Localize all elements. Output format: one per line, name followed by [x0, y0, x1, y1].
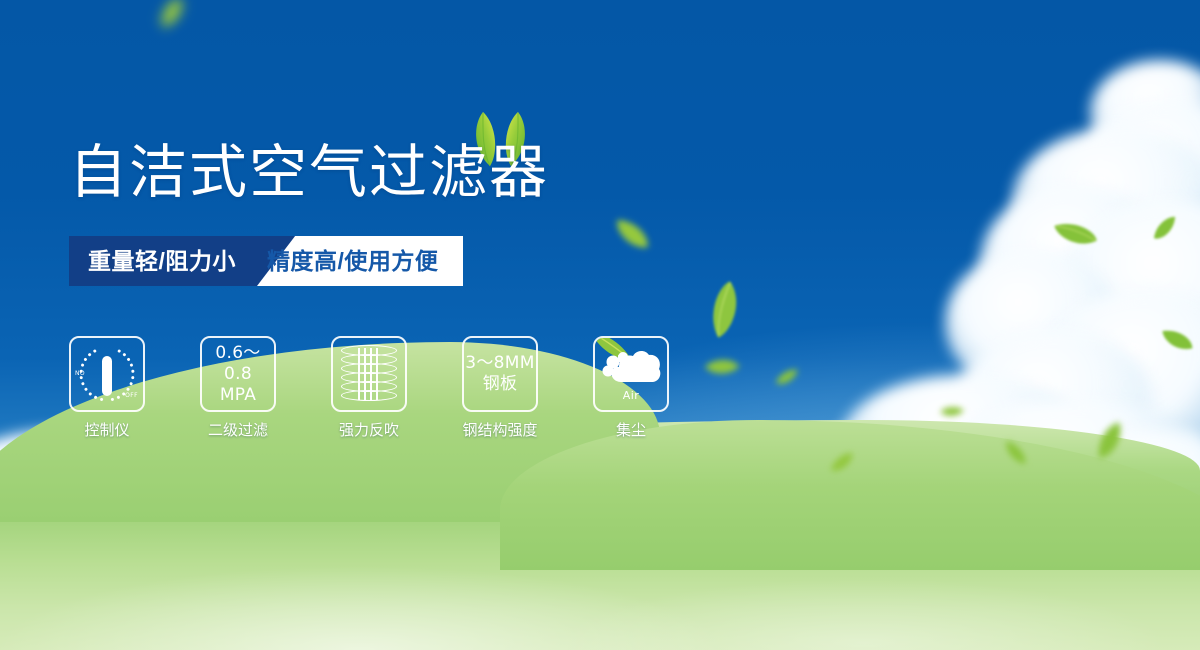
subtitle-right-text: 精度高/使用方便: [267, 236, 438, 286]
feature-label-controller: 控制仪: [69, 422, 145, 440]
feature-list: NO OFF 控制仪 0.6～0.8 MPA 二级过滤: [69, 336, 669, 446]
steel-text-icon: 3～8MM 钢板: [465, 353, 534, 395]
filter-stack-icon: [341, 345, 397, 403]
gauge-icon: NO OFF: [75, 344, 139, 404]
feature-label-secondary-filter: 二级过滤: [200, 422, 276, 440]
cloud-air-caption: Air: [599, 389, 663, 402]
product-banner: 自洁式空气过滤器 重量轻/阻力小 精度高/使用方便: [0, 0, 1200, 650]
gauge-needle: [102, 356, 112, 396]
feature-box-secondary-filter: 0.6～0.8 MPA: [200, 336, 276, 412]
page-title: 自洁式空气过滤器: [69, 143, 549, 201]
feature-label-steel-strength: 钢结构强度: [448, 422, 552, 440]
cloud-air-icon: Air: [599, 345, 663, 403]
subtitle-bar: 重量轻/阻力小 精度高/使用方便: [69, 236, 463, 286]
banner-content: 自洁式空气过滤器 重量轻/阻力小 精度高/使用方便: [0, 0, 1200, 650]
steel-line-1: 3～8MM: [465, 353, 534, 373]
feature-item-dust-collection[interactable]: Air 集尘: [593, 336, 669, 440]
feature-box-backblow: [331, 336, 407, 412]
pressure-text-icon: 0.6～0.8 MPA: [202, 343, 274, 406]
pressure-line-2: MPA: [202, 385, 274, 406]
feature-label-backblow: 强力反吹: [331, 422, 407, 440]
feature-box-dust-collection: Air: [593, 336, 669, 412]
steel-line-2: 钢板: [465, 374, 534, 395]
feature-item-steel-strength[interactable]: 3～8MM 钢板 钢结构强度: [462, 336, 538, 440]
feature-box-controller: NO OFF: [69, 336, 145, 412]
feature-box-steel-strength: 3～8MM 钢板: [462, 336, 538, 412]
gauge-label-no: NO: [75, 370, 85, 377]
gauge-label-off: OFF: [125, 392, 138, 399]
feature-label-dust-collection: 集尘: [593, 422, 669, 440]
feature-item-backblow[interactable]: 强力反吹: [331, 336, 407, 440]
pressure-line-1: 0.6～0.8: [215, 343, 260, 384]
feature-item-secondary-filter[interactable]: 0.6～0.8 MPA 二级过滤: [200, 336, 276, 440]
feature-item-controller[interactable]: NO OFF 控制仪: [69, 336, 145, 440]
subtitle-left-text: 重量轻/阻力小: [88, 236, 236, 286]
